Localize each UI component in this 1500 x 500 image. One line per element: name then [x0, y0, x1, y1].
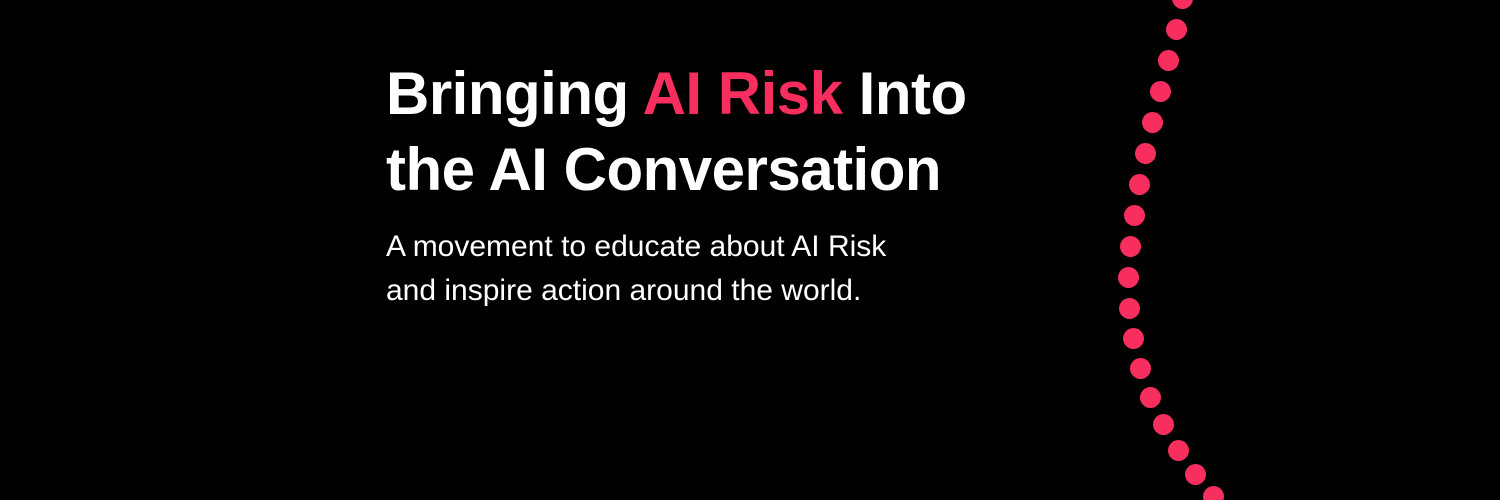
hero-banner: Bringing AI Risk Intothe AI Conversation… — [0, 0, 1500, 500]
subtitle-line-1: A movement to educate about AI Risk — [386, 230, 886, 263]
headline-part-1: Bringing — [386, 60, 643, 127]
arc-dot — [1185, 464, 1206, 485]
arc-dot — [1124, 205, 1145, 226]
arc-dot — [1153, 414, 1174, 435]
page-title: Bringing AI Risk Intothe AI Conversation — [386, 56, 1026, 208]
arc-dot — [1129, 174, 1150, 195]
arc-dot — [1123, 328, 1144, 349]
arc-dot — [1203, 486, 1224, 500]
hero-text-block: Bringing AI Risk Intothe AI Conversation… — [386, 56, 1026, 313]
arc-dot — [1135, 143, 1156, 164]
dotted-arc-decoration — [1060, 0, 1280, 500]
arc-dot — [1168, 440, 1189, 461]
arc-dot — [1120, 236, 1141, 257]
arc-dot — [1140, 387, 1161, 408]
headline-part-2: Into — [843, 60, 967, 127]
arc-dot — [1158, 50, 1179, 71]
arc-dot — [1172, 0, 1193, 9]
arc-dot — [1166, 19, 1187, 40]
arc-dot — [1118, 267, 1139, 288]
headline-accent-ai-risk: AI Risk — [643, 60, 843, 127]
arc-dot — [1150, 81, 1171, 102]
subtitle-line-2: and inspire action around the world. — [386, 274, 861, 307]
headline-line-2: the AI Conversation — [386, 136, 941, 203]
arc-dot — [1142, 112, 1163, 133]
arc-dot — [1130, 358, 1151, 379]
arc-dot — [1119, 298, 1140, 319]
page-subtitle: A movement to educate about AI Riskand i… — [386, 208, 1026, 313]
